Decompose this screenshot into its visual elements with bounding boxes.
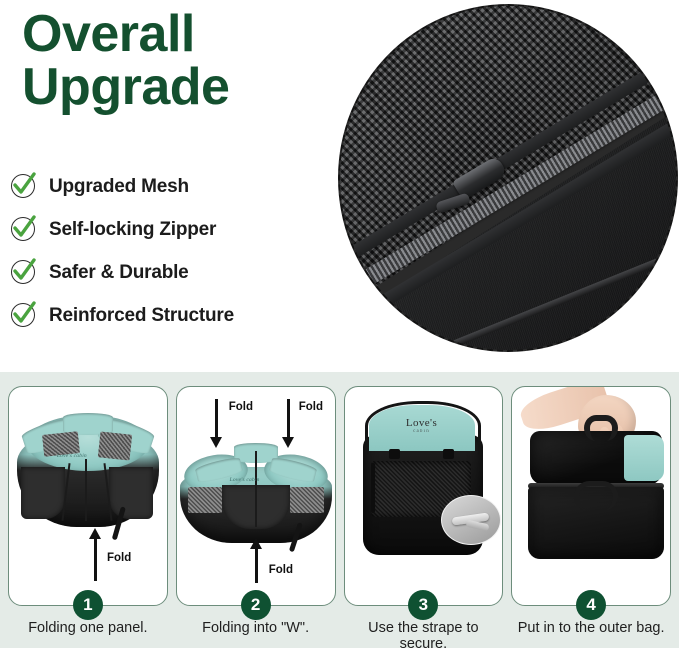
feature-item-safer-durable: Safer & Durable bbox=[10, 251, 330, 294]
step-card-1: Love's cabin Fold 1 bbox=[8, 386, 168, 606]
step-card-4: 4 bbox=[511, 386, 671, 606]
feature-label: Upgraded Mesh bbox=[49, 176, 189, 198]
steps-card-row: Love's cabin Fold 1 bbox=[8, 386, 671, 606]
fold-arrow-down-right bbox=[287, 399, 290, 439]
brand-name: Love's bbox=[369, 417, 475, 429]
fold-arrow-down-left bbox=[215, 399, 218, 439]
step-badge-4: 4 bbox=[576, 590, 606, 620]
feature-label: Safer & Durable bbox=[49, 262, 189, 284]
step-badge-1: 1 bbox=[73, 590, 103, 620]
fold-label: Fold bbox=[107, 552, 131, 564]
feature-list: Upgraded Mesh Self-locking Zipper Safer … bbox=[10, 165, 330, 337]
zipper-closeup-photo bbox=[338, 4, 678, 352]
brand-subtitle: cabin bbox=[369, 429, 475, 434]
folding-steps-section: Love's cabin Fold 1 bbox=[0, 372, 679, 648]
step-3-photo: Love's cabin bbox=[345, 387, 503, 605]
check-circle-icon bbox=[10, 173, 37, 200]
bag-front-handle bbox=[574, 481, 618, 511]
fold-arrow-up bbox=[94, 537, 97, 581]
feature-label: Reinforced Structure bbox=[49, 305, 234, 327]
fold-label: Fold bbox=[299, 401, 323, 413]
step-caption-1: Folding one panel. bbox=[8, 620, 168, 636]
bag-handle bbox=[584, 415, 618, 441]
check-circle-icon bbox=[10, 216, 37, 243]
headline-line-2: Upgrade bbox=[22, 61, 322, 114]
hero-section: Overall Upgrade Upgraded Mesh Self-locki… bbox=[0, 0, 679, 372]
step-badge-2: 2 bbox=[241, 590, 271, 620]
feature-item-self-locking-zipper: Self-locking Zipper bbox=[10, 208, 330, 251]
feature-label: Self-locking Zipper bbox=[49, 219, 216, 241]
step-caption-3: Use the strape to secure. bbox=[344, 620, 504, 652]
step-card-2: Love's cabin Fold Fold Fold 2 bbox=[176, 386, 336, 606]
strap-detail-callout bbox=[441, 495, 501, 545]
check-circle-icon bbox=[10, 302, 37, 329]
page-title: Overall Upgrade bbox=[22, 8, 322, 114]
headline-line-1: Overall bbox=[22, 8, 322, 61]
playpen-inside-bag bbox=[624, 435, 664, 481]
feature-item-reinforced-structure: Reinforced Structure bbox=[10, 294, 330, 337]
fold-arrow-up bbox=[255, 547, 258, 583]
step-2-photo: Love's cabin Fold Fold Fold bbox=[177, 387, 335, 605]
step-caption-4: Put in to the outer bag. bbox=[511, 620, 671, 636]
step-1-photo: Love's cabin Fold bbox=[9, 387, 167, 605]
check-circle-icon bbox=[10, 259, 37, 286]
fold-label: Fold bbox=[229, 401, 253, 413]
step-badge-3: 3 bbox=[408, 590, 438, 620]
feature-item-upgraded-mesh: Upgraded Mesh bbox=[10, 165, 330, 208]
step-4-photo bbox=[512, 387, 670, 605]
step-caption-2: Folding into "W". bbox=[176, 620, 336, 636]
fold-label: Fold bbox=[269, 564, 293, 576]
step-card-3: Love's cabin 3 bbox=[344, 386, 504, 606]
